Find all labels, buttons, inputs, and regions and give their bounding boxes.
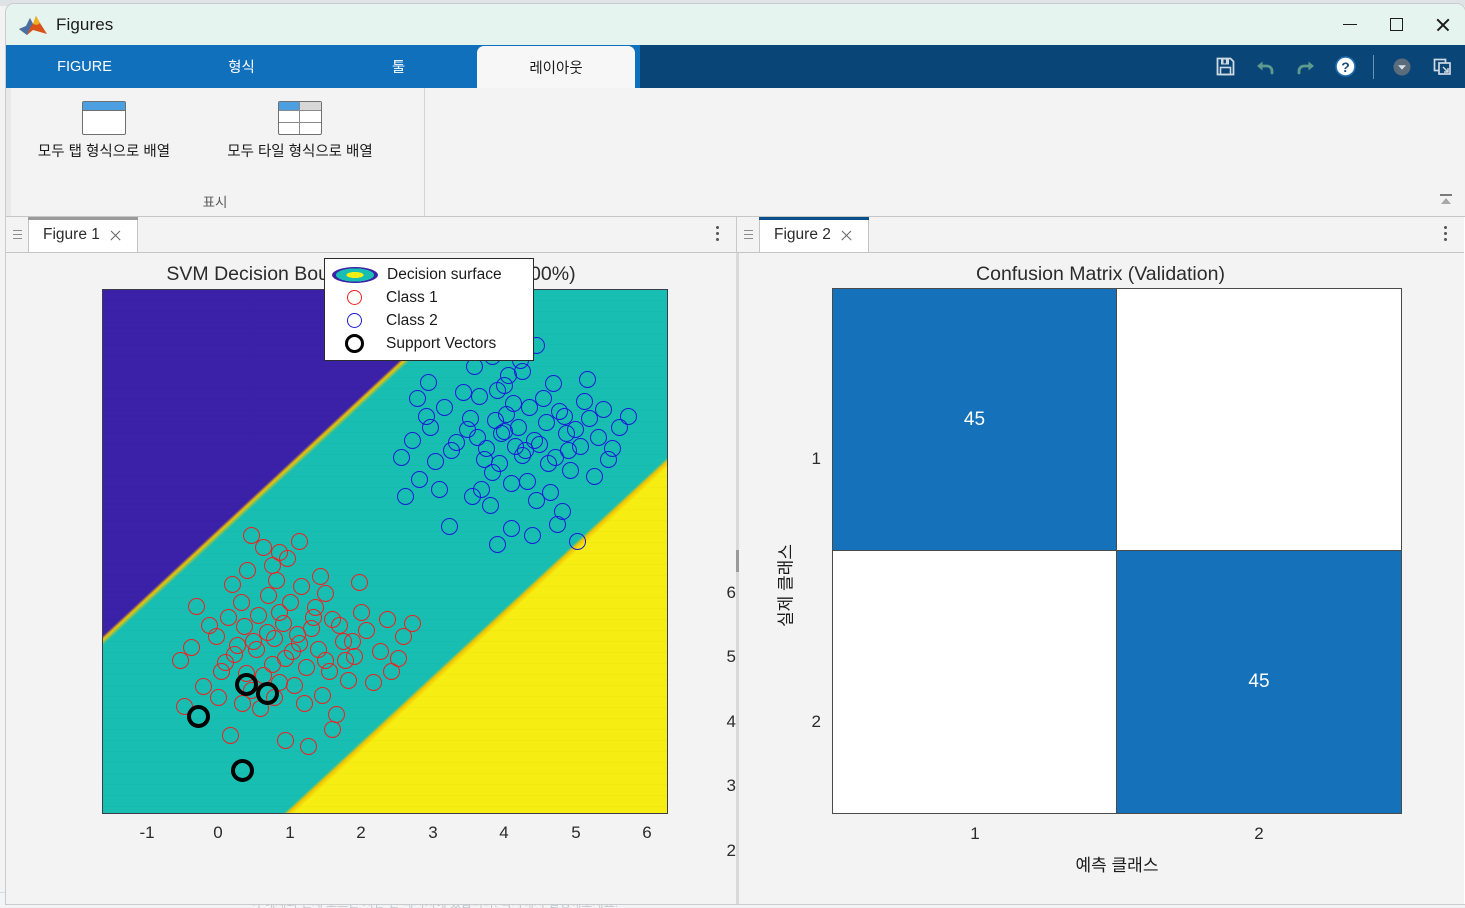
undo-icon[interactable] (1250, 52, 1280, 82)
data-point-marker (542, 484, 559, 501)
data-point-marker (390, 650, 407, 667)
figure-1-tab-label: Figure 1 (43, 226, 100, 244)
class-2-marker-icon (347, 313, 362, 328)
svm-xtick-4: 4 (476, 823, 532, 843)
data-point-marker (317, 585, 334, 602)
support-vector-marker (235, 673, 258, 696)
data-point-marker (365, 674, 382, 691)
figure-1-tab-bar: Figure 1 (6, 217, 736, 253)
ribbon-tab-layout[interactable]: 레이아웃 (477, 46, 635, 88)
legend-entry-support-vectors: Support Vectors (332, 333, 526, 354)
data-point-marker (379, 611, 396, 628)
support-vector-marker (187, 705, 210, 728)
svm-xtick-0: 0 (190, 823, 246, 843)
figure-panel-1: Figure 1 SVM Decision Boundary (Accuracy… (6, 217, 737, 904)
legend-entry-decision-surface: Decision surface (332, 264, 526, 285)
data-point-marker (220, 609, 237, 626)
arrange-all-tabs-icon (82, 101, 126, 135)
data-point-marker (250, 607, 267, 624)
decision-surface-swatch-icon (332, 267, 378, 283)
screen-root: 이 예제의 전체 코드는 지난 번 메시지에 있습니다. 복사해서 실행해보세요… (0, 0, 1465, 908)
data-point-marker (172, 652, 189, 669)
data-point-marker (305, 609, 322, 626)
data-point-marker (404, 432, 421, 449)
drag-grip-icon[interactable] (6, 216, 28, 252)
class-1-marker-icon (347, 290, 362, 305)
data-point-marker (358, 622, 375, 639)
figure-1-close-icon[interactable] (109, 229, 122, 242)
title-bar: Figures (6, 4, 1465, 45)
figure-1-kebab-menu-icon[interactable] (708, 223, 726, 243)
data-point-marker (310, 641, 327, 658)
figure-2-tab[interactable]: Figure 2 (759, 217, 869, 252)
minimize-icon[interactable] (1327, 4, 1373, 45)
ribbon-tab-strip: FIGURE 형식 툴 레이아웃 (6, 45, 1465, 88)
ribbon-quick-tools: ? (1210, 45, 1457, 88)
more-dropdown-icon[interactable] (1387, 52, 1417, 82)
data-point-marker (579, 371, 596, 388)
figure-2-kebab-menu-icon[interactable] (1436, 223, 1454, 243)
figure-2-tab-bar: Figure 2 (737, 217, 1464, 253)
support-vector-marker (256, 682, 279, 705)
cm-ytick-1: 1 (799, 449, 821, 469)
data-point-marker (264, 656, 281, 673)
data-point-marker (324, 721, 341, 738)
data-point-marker (524, 527, 541, 544)
data-point-marker (540, 455, 557, 472)
decision-surface (103, 290, 667, 813)
help-icon[interactable]: ? (1330, 52, 1360, 82)
cm-ytick-2: 2 (799, 712, 821, 732)
arrange-all-tiled-icon (278, 101, 322, 135)
data-point-marker (210, 689, 227, 706)
toolbar-separator (1373, 55, 1374, 79)
ribbon-tab-format[interactable]: 형식 (163, 45, 320, 88)
drag-grip-icon[interactable] (737, 216, 759, 252)
arrange-all-tabs-label: 모두 탭 형식으로 배열 (38, 140, 170, 161)
redo-icon[interactable] (1290, 52, 1320, 82)
svm-xtick-1: 1 (262, 823, 318, 843)
data-point-marker (340, 672, 357, 689)
data-point-marker (229, 637, 246, 654)
cm-xtick-2: 2 (1231, 824, 1287, 844)
collapse-ribbon-icon[interactable] (1433, 188, 1459, 212)
data-point-marker (312, 568, 329, 585)
data-point-marker (455, 384, 472, 401)
matlab-logo-icon (18, 12, 48, 38)
data-point-marker (243, 527, 260, 544)
data-point-marker (549, 516, 566, 533)
data-point-marker (482, 497, 499, 514)
data-point-marker (545, 375, 562, 392)
data-point-marker (519, 473, 536, 490)
svm-ytick-2: 2 (650, 841, 736, 861)
ribbon-tab-figure[interactable]: FIGURE (6, 45, 163, 88)
data-point-marker (233, 594, 250, 611)
confusion-matrix-grid[interactable]: 45 45 (832, 288, 1402, 814)
data-point-marker (503, 475, 520, 492)
data-point-marker (282, 594, 299, 611)
figures-window: Figures FIGURE 형식 툴 레이아웃 (6, 4, 1465, 904)
data-point-marker (510, 419, 527, 436)
window-controls (1327, 4, 1465, 45)
svm-xtick-3: 3 (405, 823, 461, 843)
data-point-marker (476, 451, 493, 468)
data-point-marker (471, 388, 488, 405)
data-point-marker (296, 695, 313, 712)
figure-panel-2: Figure 2 Confusion Matrix (Validation) 4… (737, 217, 1464, 904)
data-point-marker (397, 488, 414, 505)
figure-1-canvas: SVM Decision Boundary (Accuracy = 100.00… (6, 253, 736, 903)
data-point-marker (489, 536, 506, 553)
data-point-marker (188, 598, 205, 615)
data-point-marker (314, 687, 331, 704)
data-point-marker (239, 562, 256, 579)
legend-entry-class-2: Class 2 (332, 310, 526, 331)
svm-xtick-5: 5 (548, 823, 604, 843)
confusion-matrix-title: Confusion Matrix (Validation) (737, 263, 1464, 286)
data-point-marker (418, 408, 435, 425)
data-point-marker (259, 624, 276, 641)
svm-xtick-6: 6 (619, 823, 675, 843)
cm-xlabel: 예측 클래스 (832, 851, 1402, 876)
ribbon-body: 모두 탭 형식으로 배열 모두 타일 형식으로 배열 표시 (6, 88, 1465, 217)
data-point-marker (441, 518, 458, 535)
data-point-marker (409, 390, 426, 407)
ribbon-group-title: 표시 (6, 191, 424, 211)
ribbon-tab-tools[interactable]: 툴 (320, 45, 477, 88)
data-point-marker (372, 643, 389, 660)
arrange-all-tabs-button[interactable]: 모두 탭 형식으로 배열 (6, 97, 202, 163)
data-point-marker (271, 544, 288, 561)
data-point-marker (255, 539, 272, 556)
support-vector-marker-icon (345, 334, 364, 353)
data-point-marker (459, 421, 476, 438)
cm-cell-1-2[interactable] (1117, 289, 1401, 551)
cm-ylabel: 실제 클래스 (772, 526, 797, 646)
restore-down-icon[interactable] (1427, 52, 1457, 82)
svm-xtick-2: 2 (333, 823, 389, 843)
maximize-icon[interactable] (1373, 4, 1419, 45)
data-point-marker (195, 678, 212, 695)
legend-entry-class-1: Class 1 (332, 287, 526, 308)
legend-label-support-vectors: Support Vectors (386, 335, 496, 353)
figure-2-canvas: Confusion Matrix (Validation) 45 45 1 2 … (737, 253, 1464, 903)
cm-cell-1-1[interactable]: 45 (833, 289, 1117, 551)
cm-cell-2-2[interactable]: 45 (1117, 551, 1401, 813)
data-point-marker (321, 663, 338, 680)
data-point-marker (514, 363, 531, 380)
data-point-marker (531, 436, 548, 453)
figure-1-tab[interactable]: Figure 1 (28, 217, 138, 252)
panel-splitter[interactable] (736, 253, 739, 904)
cm-cell-2-1[interactable] (833, 551, 1117, 813)
data-point-marker (503, 520, 520, 537)
data-point-marker (234, 695, 251, 712)
document-area: Figure 1 SVM Decision Boundary (Accuracy… (6, 217, 1465, 904)
svg-text:?: ? (1341, 59, 1350, 75)
data-point-marker (586, 468, 603, 485)
arrange-all-tiled-label: 모두 타일 형식으로 배열 (227, 140, 373, 161)
window-title: Figures (56, 15, 113, 35)
arrange-all-tiled-button[interactable]: 모두 타일 형식으로 배열 (202, 97, 398, 163)
data-point-marker (420, 374, 437, 391)
legend-label-class-1: Class 1 (386, 289, 438, 307)
svm-legend[interactable]: Decision surface Class 1 Class 2 Su (324, 258, 534, 361)
save-icon[interactable] (1210, 52, 1240, 82)
cm-xtick-1: 1 (947, 824, 1003, 844)
ribbon-group-display: 모두 탭 형식으로 배열 모두 타일 형식으로 배열 표시 (6, 88, 425, 216)
svm-axes[interactable] (102, 289, 668, 814)
figure-2-close-icon[interactable] (840, 229, 853, 242)
data-point-marker (464, 488, 481, 505)
data-point-marker (404, 615, 421, 632)
svm-xtick-neg1: -1 (119, 823, 175, 843)
data-point-marker (393, 449, 410, 466)
close-icon[interactable] (1419, 4, 1465, 45)
figure-2-tab-label: Figure 2 (774, 226, 831, 244)
legend-label-class-2: Class 2 (386, 312, 438, 330)
data-point-marker (298, 659, 315, 676)
data-point-marker (331, 617, 348, 634)
data-point-marker (411, 471, 428, 488)
legend-label-decision-surface: Decision surface (387, 266, 502, 284)
